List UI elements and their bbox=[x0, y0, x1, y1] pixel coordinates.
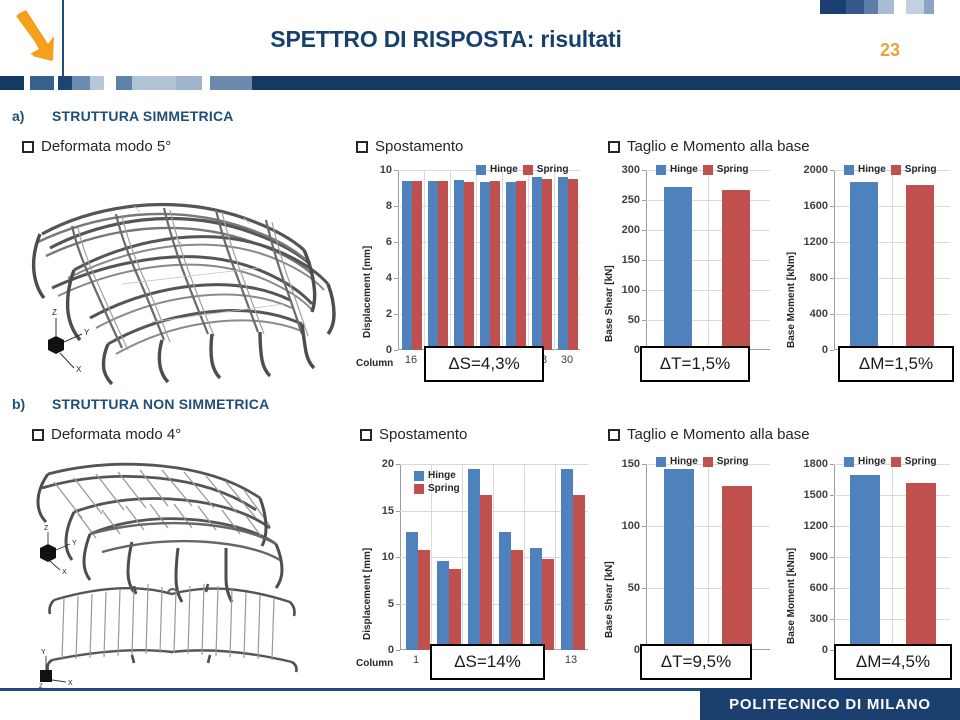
legend-swatch-hinge bbox=[844, 457, 854, 467]
legend-label: Spring bbox=[537, 164, 569, 175]
bar-spring bbox=[418, 550, 430, 650]
annotation-delta-s-bottom: ΔS=14% bbox=[430, 644, 545, 680]
bar-hinge bbox=[664, 187, 692, 350]
legend-label: Hinge bbox=[670, 456, 698, 467]
legend-swatch-spring bbox=[703, 457, 713, 467]
bar-hinge bbox=[499, 532, 511, 650]
y-tick-label: 1800 bbox=[804, 458, 828, 470]
legend: Hinge Spring bbox=[844, 164, 936, 175]
bar-spring bbox=[449, 569, 461, 650]
legend-swatch-spring bbox=[891, 165, 901, 175]
svg-text:Z: Z bbox=[44, 525, 49, 532]
bullet-deformata-modo-5: Deformata modo 5° bbox=[22, 138, 171, 155]
legend-item-hinge: Hinge bbox=[656, 164, 698, 175]
x-tick-label: 13 bbox=[565, 654, 577, 666]
legend-item-hinge: Hinge bbox=[844, 456, 886, 467]
bar-spring bbox=[542, 179, 552, 350]
legend-item-hinge: Hinge bbox=[476, 164, 518, 175]
legend-item-spring: Spring bbox=[891, 164, 937, 175]
x-axis-title: Column bbox=[356, 658, 393, 669]
y-tick-label: 0 bbox=[822, 644, 828, 656]
bar-hinge bbox=[437, 561, 449, 650]
orange-down-right-arrow-icon bbox=[8, 8, 56, 66]
legend-swatch-spring bbox=[523, 165, 533, 175]
legend-swatch-hinge bbox=[844, 165, 854, 175]
y-axis bbox=[398, 170, 399, 350]
bullet-label: Spostamento bbox=[379, 426, 467, 443]
y-tick-label: 0 bbox=[388, 644, 394, 656]
y-tick-label: 5 bbox=[388, 598, 394, 610]
bullet-label: Taglio e Momento alla base bbox=[627, 426, 810, 443]
bar-spring bbox=[412, 181, 422, 350]
bar-hinge bbox=[454, 180, 464, 350]
bar-spring bbox=[906, 185, 934, 350]
y-tick-label: 50 bbox=[628, 314, 640, 326]
x-tick-label: 16 bbox=[405, 354, 417, 366]
y-tick-label: 300 bbox=[810, 613, 828, 625]
legend: Hinge Spring bbox=[656, 456, 748, 467]
y-axis-title: Base Shear [kN] bbox=[604, 265, 615, 342]
y-tick-label: 15 bbox=[382, 505, 394, 517]
legend-label: Hinge bbox=[670, 164, 698, 175]
y-axis bbox=[646, 464, 647, 650]
y-axis-title: Base Shear [kN] bbox=[604, 561, 615, 638]
y-axis-title: Displacement [mm] bbox=[362, 548, 373, 640]
axis-triad-icon: Z Y X bbox=[40, 525, 77, 576]
legend-label: Spring bbox=[905, 456, 937, 467]
section-a-title: STRUTTURA SIMMETRICA bbox=[52, 108, 234, 124]
svg-text:Z: Z bbox=[52, 308, 57, 317]
slide-header: SPETTRO DI RISPOSTA: risultati 23 bbox=[0, 0, 960, 94]
bar-hinge bbox=[530, 548, 542, 650]
bar-hinge bbox=[428, 181, 438, 350]
legend-item-hinge: Hinge bbox=[656, 456, 698, 467]
bullet-label: Taglio e Momento alla base bbox=[627, 138, 810, 155]
checkbox-square-icon bbox=[608, 429, 620, 441]
y-tick-label: 1500 bbox=[804, 489, 828, 501]
section-b-title: STRUTTURA NON SIMMETRICA bbox=[52, 396, 269, 412]
legend-label: Spring bbox=[905, 164, 937, 175]
svg-text:X: X bbox=[62, 569, 67, 576]
y-tick-label: 4 bbox=[386, 272, 392, 284]
y-tick-label: 1600 bbox=[804, 200, 828, 212]
bullet-label: Deformata modo 5° bbox=[41, 138, 171, 155]
annotation-delta-m-bottom: ΔM=4,5% bbox=[834, 644, 952, 680]
y-tick-label: 10 bbox=[380, 164, 392, 176]
legend: Hinge Spring bbox=[414, 470, 460, 494]
y-tick-label: 150 bbox=[622, 254, 640, 266]
legend-item-spring: Spring bbox=[891, 456, 937, 467]
bullet-label: Spostamento bbox=[375, 138, 463, 155]
bar-spring bbox=[542, 559, 554, 650]
plot-area: 300 250 200 150 100 50 0 bbox=[646, 170, 770, 350]
annotation-delta-m-top: ΔM=1,5% bbox=[838, 346, 954, 382]
bar-spring bbox=[511, 550, 523, 650]
axis-triad-icon: Y X Z bbox=[39, 649, 73, 690]
checkbox-square-icon bbox=[360, 429, 372, 441]
bar-hinge bbox=[850, 182, 878, 350]
checkbox-square-icon bbox=[32, 429, 44, 441]
bar-spring bbox=[464, 182, 474, 350]
header-band bbox=[0, 76, 960, 90]
y-tick-label: 400 bbox=[810, 308, 828, 320]
legend-item-spring: Spring bbox=[523, 164, 569, 175]
checkbox-square-icon bbox=[608, 141, 620, 153]
bar-hinge bbox=[558, 177, 568, 350]
legend-item-spring: Spring bbox=[414, 483, 460, 494]
bar-spring bbox=[722, 486, 752, 650]
plot-area: 1800 1500 1200 900 600 300 0 bbox=[834, 464, 950, 650]
y-tick-label: 1200 bbox=[804, 236, 828, 248]
bullet-taglio-momento-bottom: Taglio e Momento alla base bbox=[608, 426, 810, 443]
bar-hinge bbox=[664, 469, 694, 650]
bar-hinge bbox=[468, 469, 480, 650]
bar-spring bbox=[568, 179, 578, 350]
bar-spring bbox=[516, 181, 526, 350]
y-tick-label: 10 bbox=[382, 551, 394, 563]
legend-swatch-hinge bbox=[656, 165, 666, 175]
y-tick-label: 0 bbox=[822, 344, 828, 356]
bar-spring bbox=[438, 181, 448, 350]
bullet-deformata-modo-4: Deformata modo 4° bbox=[32, 426, 181, 443]
plot-area: 150 100 50 0 bbox=[646, 464, 770, 650]
legend-swatch-hinge bbox=[656, 457, 666, 467]
bullet-spostamento-bottom: Spostamento bbox=[360, 426, 467, 443]
bar-hinge bbox=[480, 182, 490, 350]
legend: Hinge Spring bbox=[656, 164, 748, 175]
bar-spring bbox=[573, 495, 585, 650]
annotation-delta-t-top: ΔT=1,5% bbox=[640, 346, 750, 382]
bar-hinge bbox=[506, 182, 516, 350]
legend-label: Hinge bbox=[490, 164, 518, 175]
bar-hinge bbox=[532, 177, 542, 350]
y-tick-label: 800 bbox=[810, 272, 828, 284]
logo-box bbox=[0, 0, 64, 76]
y-axis bbox=[834, 170, 835, 350]
bar-spring bbox=[722, 190, 750, 350]
checkbox-square-icon bbox=[22, 141, 34, 153]
annotation-delta-s-top: ΔS=4,3% bbox=[424, 346, 544, 382]
legend: Hinge Spring bbox=[476, 164, 568, 175]
y-tick-label: 300 bbox=[622, 164, 640, 176]
legend-swatch-spring bbox=[891, 457, 901, 467]
legend-item-spring: Spring bbox=[703, 456, 749, 467]
y-tick-label: 900 bbox=[810, 551, 828, 563]
annotation-delta-t-bottom: ΔT=9,5% bbox=[640, 644, 752, 680]
y-tick-label: 200 bbox=[622, 224, 640, 236]
page-title: SPETTRO DI RISPOSTA: risultati bbox=[66, 26, 826, 53]
legend-swatch-hinge bbox=[476, 165, 486, 175]
y-tick-label: 0 bbox=[386, 344, 392, 356]
legend-item-hinge: Hinge bbox=[414, 470, 456, 481]
header-corner-stripes bbox=[820, 0, 960, 14]
footer-rule bbox=[0, 688, 800, 691]
legend-label: Hinge bbox=[858, 164, 886, 175]
page-number: 23 bbox=[880, 40, 930, 61]
footer-brand: POLITECNICO DI MILANO bbox=[700, 688, 960, 720]
legend-item-hinge: Hinge bbox=[844, 164, 886, 175]
svg-text:X: X bbox=[76, 365, 82, 374]
bar-hinge bbox=[850, 475, 880, 650]
bar-spring bbox=[480, 495, 492, 650]
bar-hinge bbox=[561, 469, 573, 650]
y-tick-label: 6 bbox=[386, 236, 392, 248]
deformed-frame-figure-mode4: Z Y X bbox=[12, 452, 342, 692]
legend-label: Hinge bbox=[428, 470, 456, 481]
slide-footer: POLITECNICO DI MILANO bbox=[0, 688, 960, 720]
y-tick-label: 100 bbox=[622, 284, 640, 296]
deformed-frame-figure-mode5: Z Y X bbox=[12, 172, 342, 387]
y-tick-label: 50 bbox=[628, 582, 640, 594]
svg-text:Y: Y bbox=[84, 328, 90, 337]
x-tick-label: 30 bbox=[561, 354, 573, 366]
bar-spring bbox=[490, 181, 500, 350]
y-tick-label: 250 bbox=[622, 194, 640, 206]
x-axis-title: Column bbox=[356, 358, 393, 369]
legend-swatch-hinge bbox=[414, 471, 424, 481]
x-tick-label: 1 bbox=[413, 654, 419, 666]
bar-hinge bbox=[402, 181, 412, 350]
y-tick-label: 1200 bbox=[804, 520, 828, 532]
legend-swatch-spring bbox=[703, 165, 713, 175]
bar-spring bbox=[906, 483, 936, 650]
y-tick-label: 2 bbox=[386, 308, 392, 320]
bar-hinge bbox=[406, 532, 418, 650]
bullet-taglio-momento-top: Taglio e Momento alla base bbox=[608, 138, 810, 155]
y-tick-label: 8 bbox=[386, 200, 392, 212]
bullet-spostamento-top: Spostamento bbox=[356, 138, 463, 155]
y-tick-label: 600 bbox=[810, 582, 828, 594]
legend-label: Spring bbox=[717, 456, 749, 467]
svg-text:Y: Y bbox=[72, 540, 77, 547]
legend-label: Spring bbox=[717, 164, 749, 175]
checkbox-square-icon bbox=[356, 141, 368, 153]
y-axis-title: Displacement [mm] bbox=[362, 246, 373, 338]
y-tick-label: 20 bbox=[382, 458, 394, 470]
y-axis-title: Base Moment [kNm] bbox=[786, 252, 797, 348]
section-b-letter: b) bbox=[12, 396, 25, 412]
y-axis-title: Base Moment [kNm] bbox=[786, 548, 797, 644]
legend: Hinge Spring bbox=[844, 456, 936, 467]
y-tick-label: 150 bbox=[622, 458, 640, 470]
bullet-label: Deformata modo 4° bbox=[51, 426, 181, 443]
y-tick-label: 100 bbox=[622, 520, 640, 532]
svg-text:X: X bbox=[68, 680, 73, 687]
legend-swatch-spring bbox=[414, 484, 424, 494]
svg-text:Y: Y bbox=[41, 649, 46, 656]
y-tick-label: 2000 bbox=[804, 164, 828, 176]
plot-area: 10 8 6 4 2 0 16 17 19 22 25 28 bbox=[398, 170, 580, 350]
section-a-letter: a) bbox=[12, 108, 24, 124]
legend-label: Hinge bbox=[858, 456, 886, 467]
legend-label: Spring bbox=[428, 483, 460, 494]
legend-item-spring: Spring bbox=[703, 164, 749, 175]
plot-area: 2000 1600 1200 800 400 0 bbox=[834, 170, 950, 350]
